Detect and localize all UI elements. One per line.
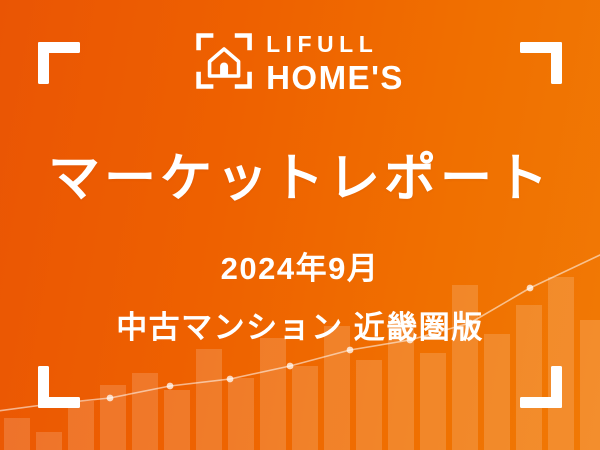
house-in-frame-icon	[196, 33, 252, 94]
logo-text-homes: HOME'S	[266, 61, 404, 94]
title-block: マーケットレポート 2024年9月 中古マンション 近畿圏版	[0, 150, 600, 347]
corner-bracket-top-left	[38, 42, 80, 84]
report-main-title: マーケットレポート	[0, 150, 600, 210]
report-subtitle: 中古マンション 近畿圏版	[0, 302, 600, 347]
report-date: 2024年9月	[0, 243, 600, 288]
corner-bracket-bottom-left	[38, 366, 80, 408]
logo-wordmark: LIFULL HOME'S	[266, 33, 404, 94]
logo-text-lifull: LIFULL	[266, 33, 378, 56]
corner-bracket-bottom-right	[520, 366, 562, 408]
corner-bracket-top-right	[520, 42, 562, 84]
lifull-homes-logo: LIFULL HOME'S	[196, 33, 404, 94]
market-report-cover: LIFULL HOME'S マーケットレポート 2024年9月 中古マンション …	[0, 0, 600, 450]
